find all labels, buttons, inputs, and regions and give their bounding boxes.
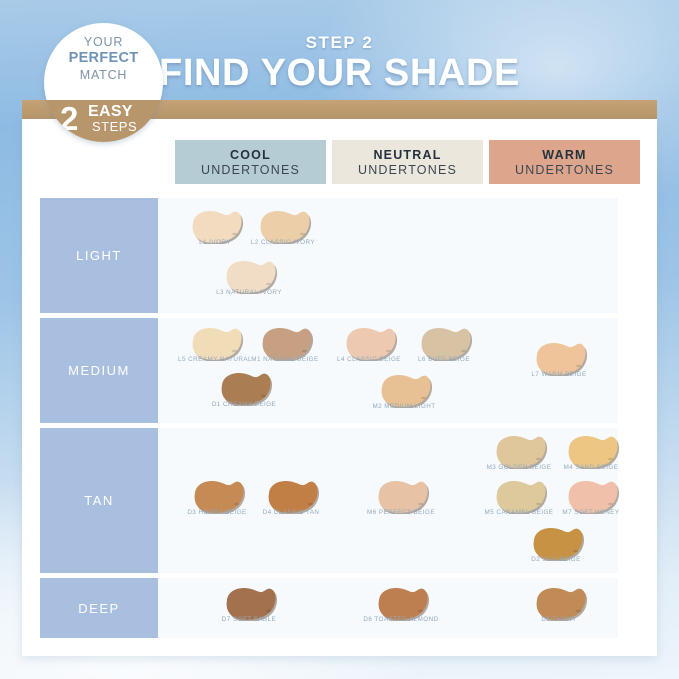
badge-step-count: 2 — [60, 102, 78, 135]
column-header-subtitle: UNDERTONES — [515, 163, 614, 177]
shade-swatch[interactable]: D4 CLASSIC TAN — [262, 478, 320, 518]
shade-swatch[interactable]: L1 IVORY — [186, 208, 244, 248]
shade-name-label: M1 NATURAL BEIGE — [240, 356, 330, 363]
shade-name-label: D1 CREAMY BEIGE — [199, 401, 289, 408]
badge-line-match: MATCH — [44, 68, 163, 82]
shade-swatch[interactable]: L6 BUFF BEIGE — [415, 325, 473, 365]
poster-canvas: STEP 2 FIND YOUR SHADE YOUR PERFECT MATC… — [0, 0, 679, 679]
shade-swatch[interactable]: M2 MEDIUM LIGHT — [375, 372, 433, 412]
shade-swatch[interactable]: M7 SOFT HONEY — [562, 478, 620, 518]
shade-row-light: LIGHT — [40, 198, 618, 313]
row-label-light[interactable]: LIGHT — [40, 198, 158, 313]
undertone-column-headers: COOLUNDERTONESNEUTRALUNDERTONESWARMUNDER… — [175, 140, 640, 184]
shade-swatch[interactable]: L2 CLASSIC IVORY — [254, 208, 312, 248]
column-header-warm[interactable]: WARMUNDERTONES — [489, 140, 640, 184]
shade-name-label: M6 PERFECT BEIGE — [356, 509, 446, 516]
column-header-cool[interactable]: COOLUNDERTONES — [175, 140, 326, 184]
shade-name-label: D7 SOFT SABLE — [220, 616, 278, 623]
shade-name-label: M3 GOLDEN BEIGE — [474, 464, 564, 471]
shade-name-label: L3 NATURAL IVORY — [204, 289, 294, 296]
badge-line-perfect: PERFECT — [44, 50, 163, 66]
shade-name-label: D6 TOASTED ALMOND — [356, 616, 446, 623]
shade-name-label: L1 IVORY — [186, 239, 244, 246]
shade-swatch[interactable]: D1 CREAMY BEIGE — [215, 370, 273, 410]
shade-swatch[interactable]: M4 SAND BEIGE — [562, 433, 620, 473]
row-label-medium[interactable]: MEDIUM — [40, 318, 158, 423]
perfect-match-badge: YOUR PERFECT MATCH 2 EASY STEPS — [44, 23, 163, 142]
shade-swatch[interactable]: D3 HONEY BEIGE — [188, 478, 246, 518]
shade-name-label: L4 CLASSIC BEIGE — [324, 356, 414, 363]
row-label-deep[interactable]: DEEP — [40, 578, 158, 638]
column-header-neutral[interactable]: NEUTRALUNDERTONES — [332, 140, 483, 184]
shade-name-label: L7 WARM BEIGE — [530, 371, 588, 378]
badge-line-steps: STEPS — [92, 119, 137, 134]
shade-swatch[interactable]: M3 GOLDEN BEIGE — [490, 433, 548, 473]
row-label-tan[interactable]: TAN — [40, 428, 158, 573]
shade-name-label: L2 CLASSIC IVORY — [238, 239, 328, 246]
shade-swatch[interactable]: D2 SUN BEIGE — [527, 525, 585, 565]
column-header-title: COOL — [230, 148, 271, 162]
column-header-subtitle: UNDERTONES — [201, 163, 300, 177]
row-label-text: LIGHT — [76, 248, 122, 263]
column-header-title: NEUTRAL — [373, 148, 441, 162]
shade-swatch[interactable]: L5 CREAMY NATURAL — [186, 325, 244, 365]
shade-name-label: M5 CARAMEL BEIGE — [474, 509, 564, 516]
row-label-text: MEDIUM — [68, 363, 130, 378]
shade-name-label: D5 TAWNY — [530, 616, 588, 623]
column-header-subtitle: UNDERTONES — [358, 163, 457, 177]
shade-name-label: M7 SOFT HONEY — [562, 509, 620, 516]
shade-swatch[interactable]: D5 TAWNY — [530, 585, 588, 625]
shade-swatch[interactable]: L7 WARM BEIGE — [530, 340, 588, 380]
shade-swatch[interactable]: M5 CARAMEL BEIGE — [490, 478, 548, 518]
shade-swatch[interactable]: D6 TOASTED ALMOND — [372, 585, 430, 625]
row-label-text: DEEP — [78, 601, 119, 616]
shade-name-label: D2 SUN BEIGE — [527, 556, 585, 563]
badge-line-your: YOUR — [44, 35, 163, 49]
shade-swatch[interactable]: L3 NATURAL IVORY — [220, 258, 278, 298]
shade-name-label: M2 MEDIUM LIGHT — [359, 403, 449, 410]
shade-name-label: D4 CLASSIC TAN — [262, 509, 320, 516]
row-label-text: TAN — [84, 493, 114, 508]
shade-swatch[interactable]: L4 CLASSIC BEIGE — [340, 325, 398, 365]
shade-swatch[interactable]: M6 PERFECT BEIGE — [372, 478, 430, 518]
shade-name-label: D3 HONEY BEIGE — [172, 509, 262, 516]
shade-name-label: L6 BUFF BEIGE — [415, 356, 473, 363]
shade-swatch[interactable]: D7 SOFT SABLE — [220, 585, 278, 625]
shade-swatch[interactable]: M1 NATURAL BEIGE — [256, 325, 314, 365]
column-header-title: WARM — [542, 148, 586, 162]
shade-name-label: M4 SAND BEIGE — [562, 464, 620, 471]
